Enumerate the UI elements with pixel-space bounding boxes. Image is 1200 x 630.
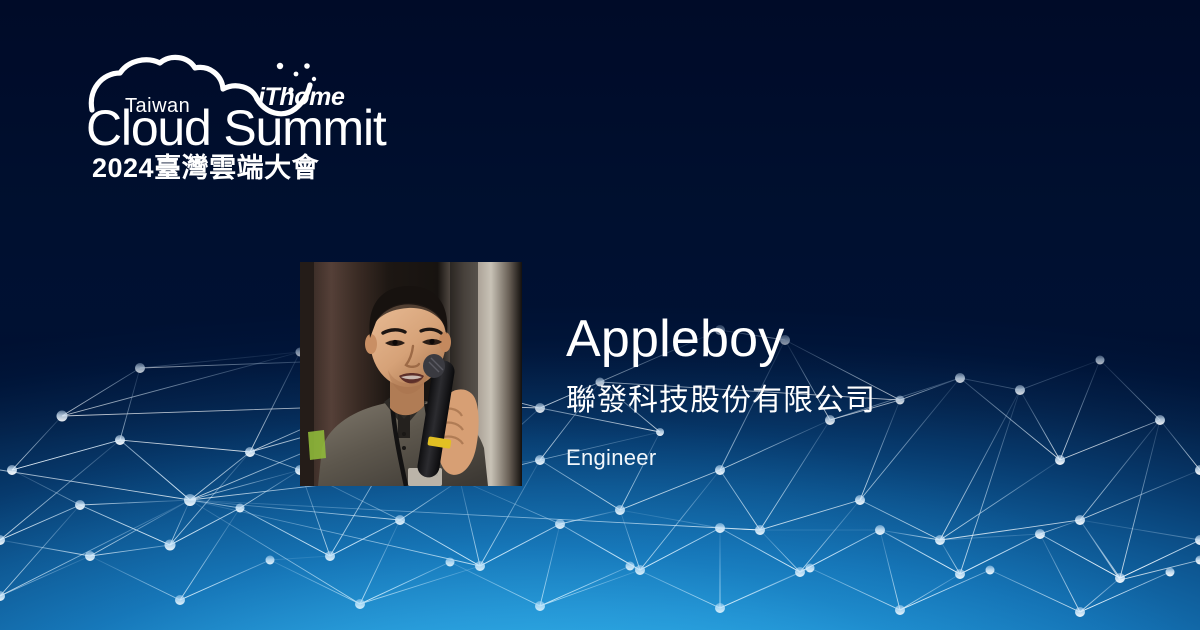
speaker-info: Appleboy 聯發科技股份有限公司 Engineer [566,312,1126,471]
event-logo[interactable]: Taiwan iThome Cloud Summit 2024臺灣雲端大會 [84,52,404,182]
speaker-card: Taiwan iThome Cloud Summit 2024臺灣雲端大會 [0,0,1200,630]
logo-wordmark: Cloud Summit [86,100,387,156]
speaker-company: 聯發科技股份有限公司 [566,383,1126,419]
speaker-photo [300,262,522,486]
speaker-job-title: Engineer [566,445,1126,471]
speaker-name: Appleboy [566,312,1126,367]
logo-subtitle: 2024臺灣雲端大會 [92,152,320,182]
